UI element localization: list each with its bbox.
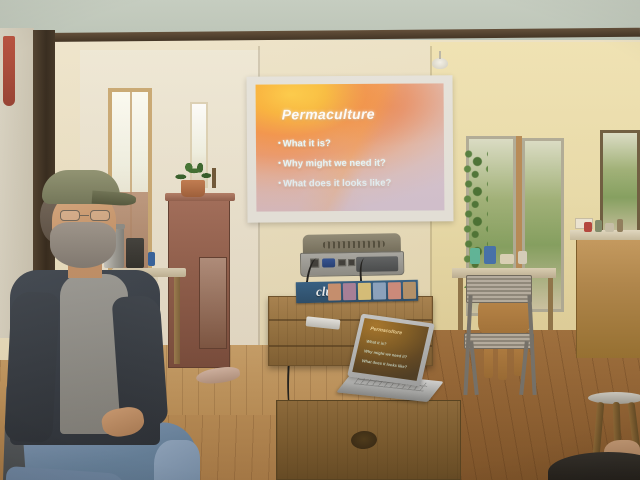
far-table-items bbox=[470, 246, 527, 264]
red-hanging-cloth bbox=[3, 36, 15, 106]
lens-left bbox=[60, 210, 80, 221]
plant-pot bbox=[181, 180, 205, 197]
laptop-slide-bullet: What does it looks like? bbox=[361, 358, 407, 369]
clue-character-portraits bbox=[328, 282, 416, 301]
chair-backrest bbox=[466, 275, 532, 303]
counter-jar-green bbox=[595, 220, 602, 232]
lens-right bbox=[90, 210, 110, 221]
glasses-bridge bbox=[80, 215, 89, 216]
projector-port bbox=[338, 259, 346, 266]
folding-chair bbox=[462, 275, 536, 395]
far-table-leg bbox=[548, 278, 553, 330]
projector-port bbox=[348, 259, 355, 266]
slide-bullet-list: What it is? Why might we need it? What d… bbox=[278, 137, 438, 198]
cabinet-glass-door bbox=[199, 257, 227, 349]
counter-bowl bbox=[605, 223, 614, 232]
white-bowl bbox=[500, 254, 514, 264]
green-cup bbox=[470, 248, 480, 264]
slide-bullet: What does it looks like? bbox=[278, 177, 438, 189]
blue-container bbox=[484, 246, 496, 264]
laptop-slide-bullet: What it is? bbox=[366, 339, 387, 347]
laptop-lid: Permaculture What it is? Why might we ne… bbox=[347, 314, 435, 387]
projector-vent bbox=[323, 240, 385, 248]
left-arm bbox=[4, 291, 60, 443]
eyeglasses bbox=[60, 210, 112, 221]
fixture-stem bbox=[439, 51, 441, 59]
seated-man bbox=[4, 170, 184, 480]
slide-title: Permaculture bbox=[282, 106, 375, 123]
chair-leg bbox=[469, 341, 479, 395]
slide-bullet: What it is? bbox=[278, 137, 438, 149]
clue-portrait bbox=[358, 283, 371, 300]
clue-portrait bbox=[403, 282, 416, 299]
room-photo-scene: Permaculture What it is? Why might we ne… bbox=[0, 0, 640, 480]
clue-portrait bbox=[388, 282, 401, 299]
counter-jar-red bbox=[584, 222, 592, 232]
slide-bullet: Why might we need it? bbox=[278, 157, 438, 169]
candle bbox=[212, 168, 216, 188]
clue-portrait bbox=[328, 283, 341, 300]
white-cup bbox=[518, 251, 527, 264]
knee bbox=[154, 440, 200, 480]
clue-game-box: clue bbox=[296, 280, 418, 304]
vine-plant bbox=[462, 148, 488, 288]
clue-portrait bbox=[373, 282, 386, 299]
presentation-slide: Permaculture What it is? Why might we ne… bbox=[256, 83, 445, 211]
laptop-slide-title: Permaculture bbox=[370, 326, 403, 336]
beard bbox=[50, 222, 116, 268]
counter-bottle bbox=[617, 219, 623, 232]
ceiling-light-fixture bbox=[432, 58, 448, 69]
laptop-slide-bullet: Why might we need it? bbox=[364, 348, 408, 359]
counter-items bbox=[584, 218, 640, 232]
vga-connector bbox=[322, 258, 335, 267]
kitchen-counter-cabinet bbox=[576, 238, 640, 358]
laptop-screen[interactable]: Permaculture What it is? Why might we ne… bbox=[352, 318, 429, 381]
projection-screen: Permaculture What it is? Why might we ne… bbox=[246, 75, 453, 222]
laptop: Permaculture What it is? Why might we ne… bbox=[336, 318, 436, 414]
clue-portrait bbox=[343, 283, 356, 300]
chair-leg bbox=[519, 341, 529, 395]
